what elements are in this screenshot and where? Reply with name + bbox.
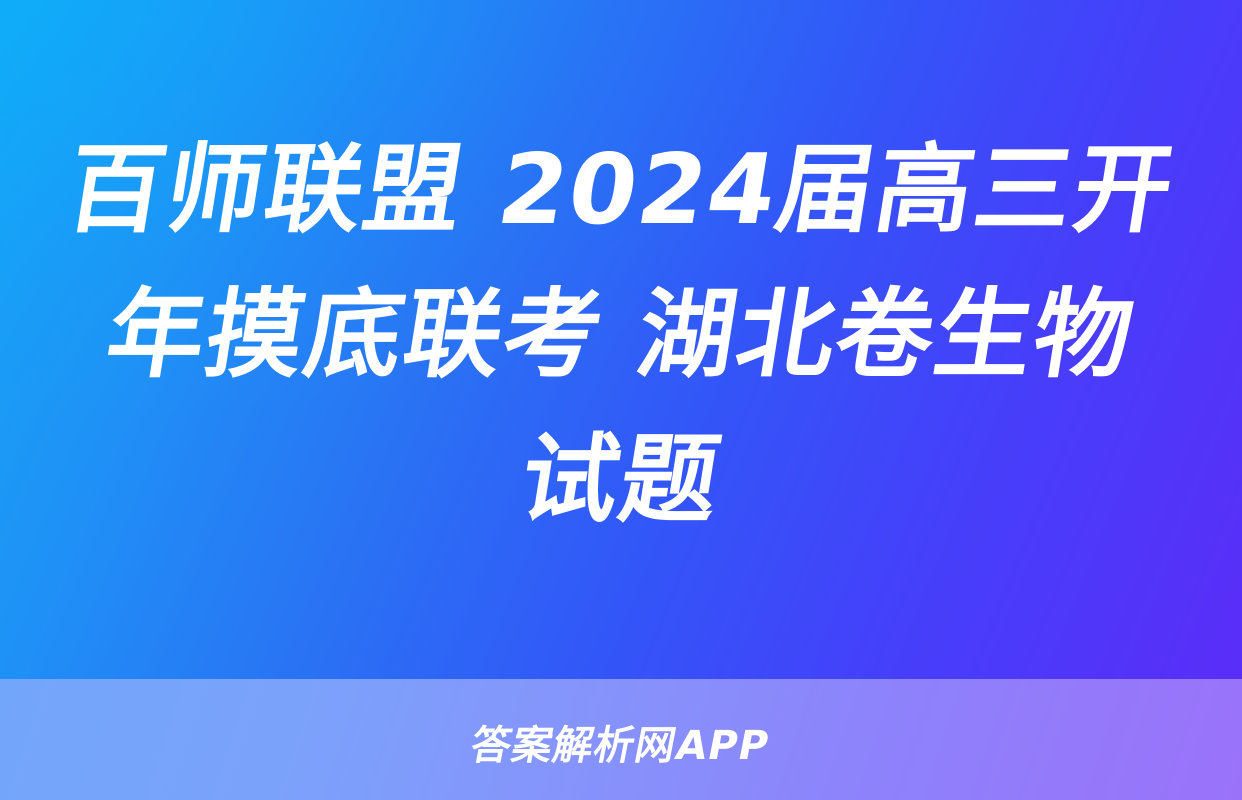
title-line-1: 百师联盟 2024届高三开	[57, 117, 1186, 262]
banner-title: 百师联盟 2024届高三开 年摸底联考 湖北卷生物 试题	[0, 0, 1242, 679]
footer-watermark-band: 答案解析网APP	[0, 679, 1242, 800]
title-line-2: 年摸底联考 湖北卷生物	[97, 262, 1146, 407]
watermark-text: 答案解析网APP	[467, 713, 776, 771]
banner-canvas: 百师联盟 2024届高三开 年摸底联考 湖北卷生物 试题 答案解析网APP	[0, 0, 1242, 800]
title-line-3: 试题	[511, 407, 732, 552]
